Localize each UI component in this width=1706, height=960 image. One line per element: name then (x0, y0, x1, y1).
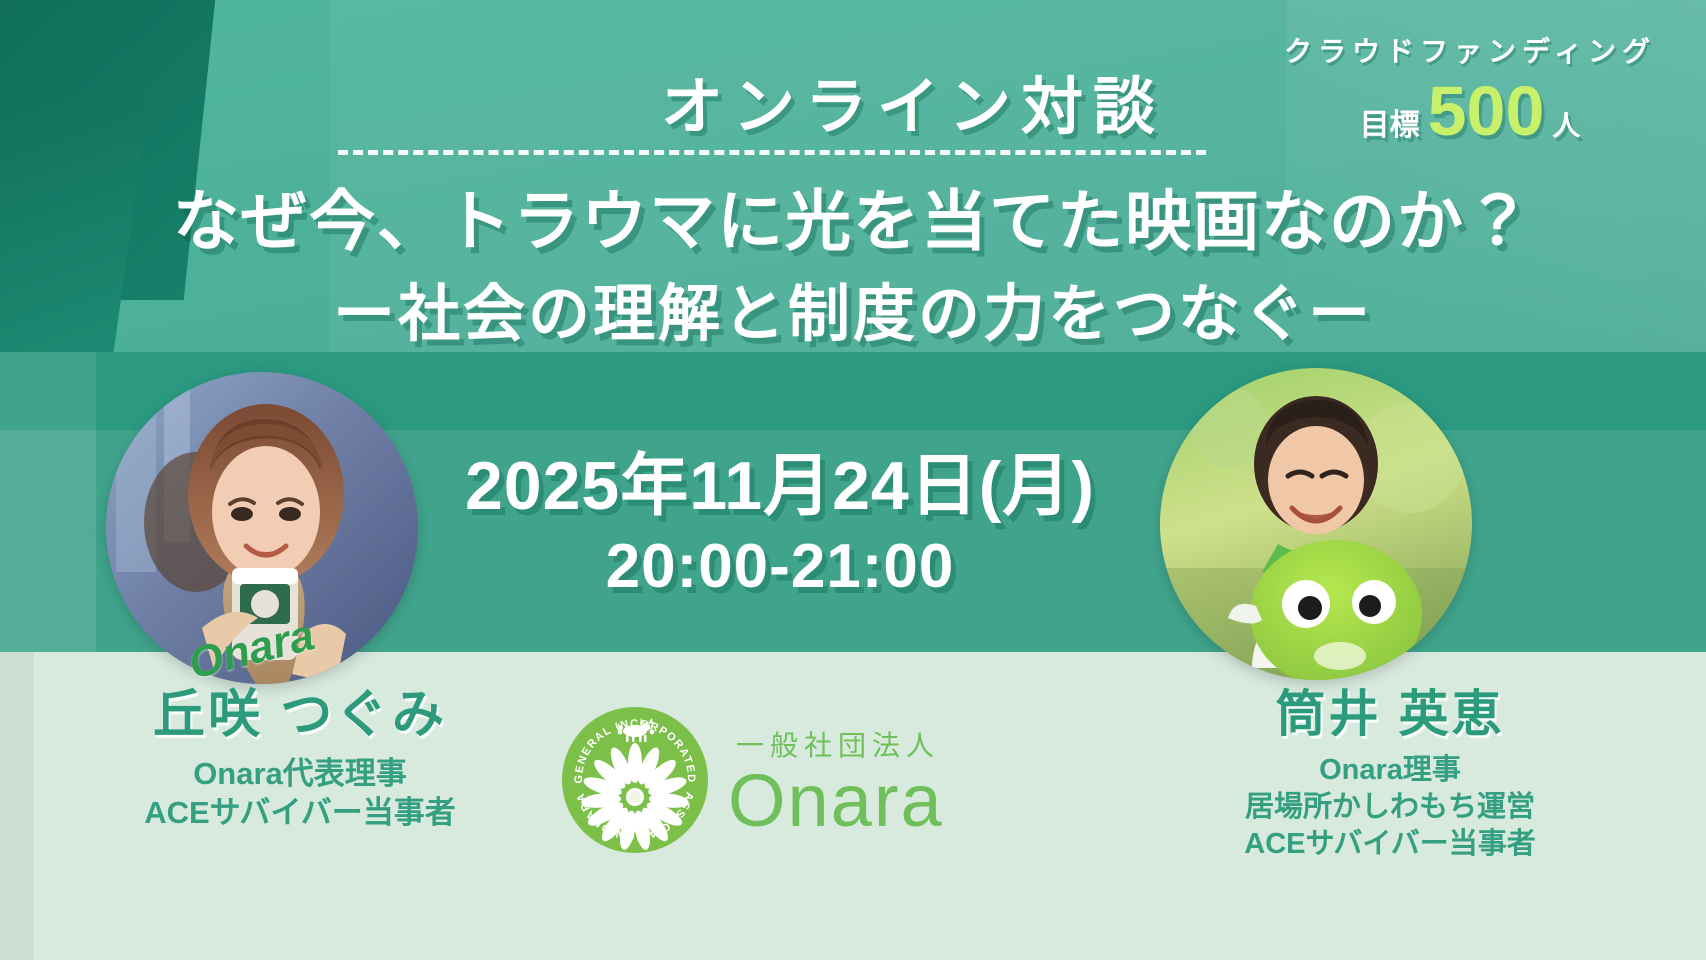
speaker-caption-left: 丘咲 つぐみ Onara代表理事 ACEサバイバー当事者 (40, 686, 560, 833)
goal-unit: 人 (1552, 104, 1580, 144)
background-left-tab (0, 352, 96, 652)
goal-number: 500 (1428, 76, 1545, 146)
speaker-caption-right: 筒井 英恵 Onara理事 居場所かしわもち運営 ACEサバイバー当事者 (1130, 686, 1650, 863)
speaker-roles-right: Onara理事 居場所かしわもち運営 ACEサバイバー当事者 (1130, 752, 1650, 863)
event-datetime: 2025年11月24日(月) 20:00-21:00 (430, 452, 1130, 598)
speaker-name-right: 筒井 英恵 (1130, 686, 1650, 744)
event-date: 2025年11月24日(月) (430, 452, 1130, 520)
dashed-divider (338, 150, 1206, 155)
speaker-role-right-1: Onara理事 (1130, 752, 1650, 789)
org-name-label: Onara (728, 766, 944, 836)
organisation-logo: GENERAL INCORPORATED ASSOCIATION ONARA (560, 690, 1020, 870)
goal-label: 目標 (1360, 100, 1420, 144)
event-time: 20:00-21:00 (430, 536, 1130, 598)
crowdfunding-label: クラウドファンディング (1260, 30, 1680, 70)
speaker-role-left-1: Onara代表理事 (40, 754, 560, 794)
speaker-photo-right (1160, 368, 1472, 680)
crowdfunding-badge: クラウドファンディング 目標 500 人 (1260, 30, 1680, 146)
speaker-name-left: 丘咲 つぐみ (40, 686, 560, 746)
speaker-roles-left: Onara代表理事 ACEサバイバー当事者 (40, 754, 560, 833)
background-bottom-left-strip (0, 652, 34, 960)
onara-seal-icon: GENERAL INCORPORATED ASSOCIATION ONARA (560, 705, 710, 855)
org-type-label: 一般社団法人 (736, 724, 944, 764)
speaker-role-right-2: 居場所かしわもち運営 (1130, 789, 1650, 826)
organisation-logo-text: 一般社団法人 Onara (728, 724, 944, 836)
title-line-2: ー社会の理解と制度の力をつなぐー (0, 263, 1706, 353)
poster-canvas: オンライン対談 なぜ今、トラウマに光を当てた映画なのか？ ー社会の理解と制度の力… (0, 0, 1706, 960)
crowdfunding-goal: 目標 500 人 (1260, 76, 1680, 146)
speaker-photo-left (106, 372, 418, 684)
title-line-1: なぜ今、トラウマに光を当てた映画なのか？ (0, 168, 1706, 264)
speaker-role-left-2: ACEサバイバー当事者 (40, 793, 560, 833)
speaker-role-right-3: ACEサバイバー当事者 (1130, 826, 1650, 863)
